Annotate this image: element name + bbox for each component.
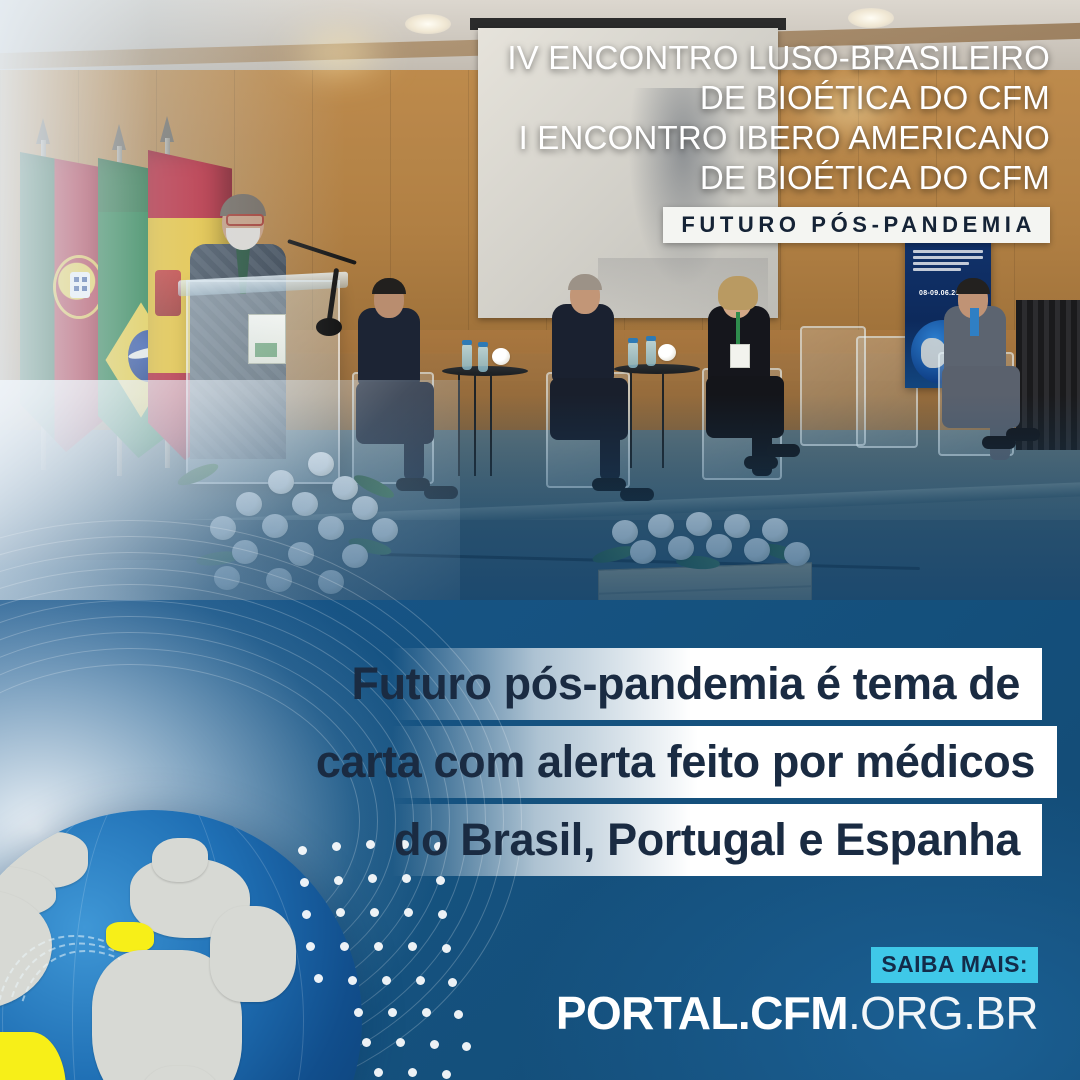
event-title-line-3: I ENCONTRO IBERO AMERICANO — [507, 118, 1050, 158]
url-light-part: .ORG.BR — [848, 987, 1038, 1039]
headline-line-2: carta com alerta feito por médicos — [316, 736, 1057, 788]
headline-line-3-row: do Brasil, Portugal e Espanha — [0, 804, 1080, 876]
portal-url[interactable]: PORTAL.CFM.ORG.BR — [556, 990, 1038, 1036]
headline-line-1-row: Futuro pós-pandemia é tema de — [0, 648, 1080, 720]
social-media-card: 08-09.06.2022 — [0, 0, 1080, 1080]
footer-branding: SAIBA MAIS: PORTAL.CFM.ORG.BR — [556, 947, 1038, 1036]
landmass-middle-east — [210, 906, 296, 1002]
headline-line-1: Futuro pós-pandemia é tema de — [352, 658, 1043, 710]
headline-line-3: do Brasil, Portugal e Espanha — [394, 814, 1042, 866]
event-title-line-2: DE BIOÉTICA DO CFM — [507, 78, 1050, 118]
event-title-line-1: IV ENCONTRO LUSO-BRASILEIRO — [507, 38, 1050, 78]
headline-line-2-row: carta com alerta feito por médicos — [0, 726, 1080, 798]
event-title-line-4: DE BIOÉTICA DO CFM — [507, 158, 1050, 198]
saiba-mais-badge: SAIBA MAIS: — [871, 947, 1038, 983]
url-bold-part: PORTAL.CFM — [556, 987, 848, 1039]
event-title-overlay: IV ENCONTRO LUSO-BRASILEIRO DE BIOÉTICA … — [507, 38, 1050, 243]
headline-block: Futuro pós-pandemia é tema de carta com … — [0, 648, 1080, 882]
event-subtitle-band: FUTURO PÓS-PANDEMIA — [663, 207, 1050, 243]
